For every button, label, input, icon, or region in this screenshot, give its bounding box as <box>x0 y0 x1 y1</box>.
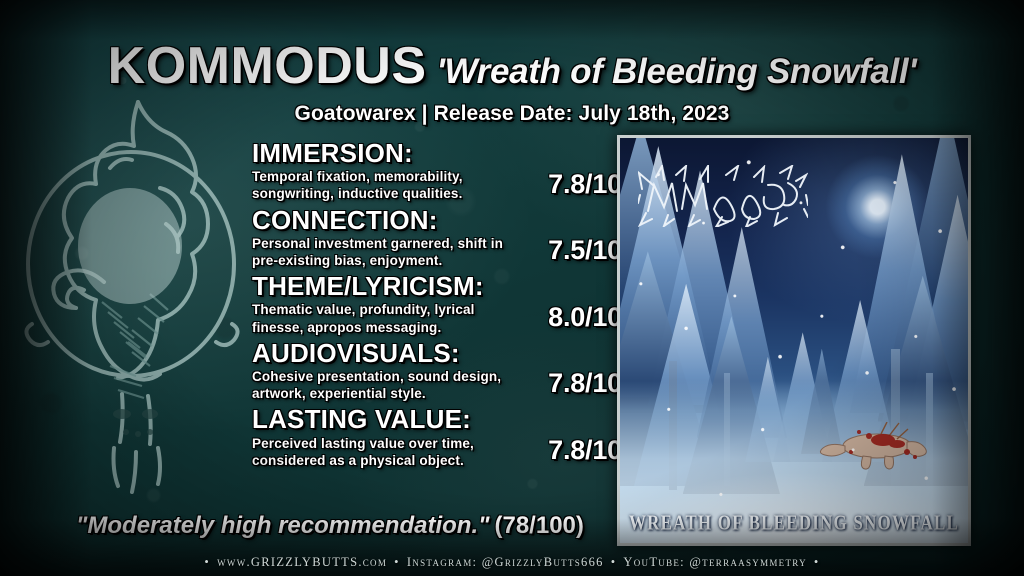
rating-category: IMMERSION: <box>252 139 612 167</box>
rating-score: 7.8/10 <box>548 169 622 200</box>
rating-description: Cohesive presentation, sound design, art… <box>252 368 514 403</box>
band-name: KOMMODUS <box>108 37 427 95</box>
header: KOMMODUS'Wreath of Bleeding Snowfall' Go… <box>0 36 1024 126</box>
footer-website[interactable]: www.GRIZZLYBUTTS.com <box>217 555 387 569</box>
rating-description: Perceived lasting value over time, consi… <box>252 435 514 470</box>
review-card: KOMMODUS'Wreath of Bleeding Snowfall' Go… <box>0 0 1024 576</box>
rating-description: Thematic value, profundity, lyrical fine… <box>252 301 514 336</box>
rating-description: Temporal fixation, memorability, songwri… <box>252 168 514 203</box>
title-line: KOMMODUS'Wreath of Bleeding Snowfall' <box>0 36 1024 96</box>
ratings-list: IMMERSION: Temporal fixation, memorabili… <box>252 139 612 472</box>
album-cover: WREATH OF BLEEDING SNOWFALL <box>617 135 971 546</box>
rating-description: Personal investment garnered, shift in p… <box>252 235 514 270</box>
album-title: 'Wreath of Bleeding Snowfall' <box>437 52 917 91</box>
rating-score: 8.0/10 <box>548 302 622 333</box>
rating-row: LASTING VALUE: Perceived lasting value o… <box>252 405 612 469</box>
verdict-quote: "Moderately high recommendation." <box>76 512 489 539</box>
rating-category: CONNECTION: <box>252 206 612 234</box>
footer-bullet-icon: • <box>394 555 400 569</box>
rating-row: CONNECTION: Personal investment garnered… <box>252 206 612 270</box>
footer-youtube[interactable]: YouTube: @terraasymmetry <box>623 555 806 569</box>
cover-album-title: WREATH OF BLEEDING SNOWFALL <box>620 511 968 536</box>
verdict-score-100: (78/100) <box>494 512 583 539</box>
rating-row: THEME/LYRICISM: Thematic value, profundi… <box>252 272 612 336</box>
footer: •www.GRIZZLYBUTTS.com•Instagram: @Grizzl… <box>0 555 1024 570</box>
rating-category: LASTING VALUE: <box>252 405 612 433</box>
rating-row: AUDIOVISUALS: Cohesive presentation, sou… <box>252 339 612 403</box>
label-release-info: Goatowarex | Release Date: July 18th, 20… <box>0 102 1024 126</box>
rating-category: AUDIOVISUALS: <box>252 339 612 367</box>
verdict: "Moderately high recommendation."(78/100… <box>76 512 584 540</box>
rating-row: IMMERSION: Temporal fixation, memorabili… <box>252 139 612 203</box>
rating-score: 7.8/10 <box>548 368 622 399</box>
footer-bullet-icon: • <box>611 555 617 569</box>
cover-artwork: WREATH OF BLEEDING SNOWFALL <box>620 138 968 543</box>
heart-emblem-icon <box>18 96 248 496</box>
rating-score: 7.8/10 <box>548 435 622 466</box>
footer-bullet-icon: • <box>204 555 210 569</box>
kommodus-band-logo-icon <box>638 165 808 227</box>
footer-instagram[interactable]: Instagram: @GrizzlyButts666 <box>407 555 604 569</box>
footer-bullet-icon: • <box>814 555 820 569</box>
rating-score: 7.5/10 <box>548 235 622 266</box>
rating-category: THEME/LYRICISM: <box>252 272 612 300</box>
